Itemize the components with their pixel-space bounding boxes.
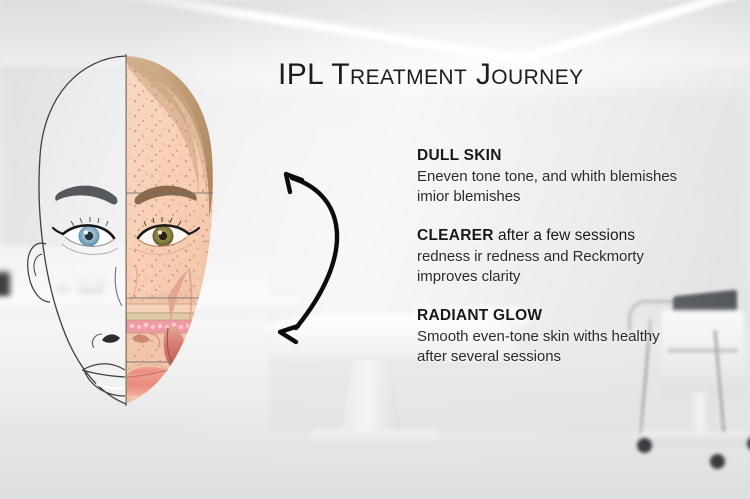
stage-radiant-glow: RADIANT GLOW Smooth even-tone skin withs…	[417, 306, 750, 367]
page-title: IPL Treatment Journey	[278, 58, 584, 92]
stage-heading-bold: RADIANT GLOW	[417, 307, 542, 324]
stage-clearer: CLEARER after a few sessions redness ir …	[417, 226, 750, 287]
face-left-half	[28, 56, 126, 404]
curved-double-arrow	[258, 160, 378, 345]
stage-dull-skin: DULL SKIN Eneven tone tone, and whith bl…	[417, 146, 750, 207]
stage-body-line-1: Eneven tone tone, and whith blemishes	[417, 167, 750, 187]
stage-body-line-1: Smooth even-tone skin withs healthy	[417, 327, 750, 347]
stage-body-line-2: imior blemishes	[417, 187, 750, 207]
stage-body-line-1: redness ir redness and Reckmorty	[417, 247, 750, 267]
ipl-machine-base	[640, 432, 750, 445]
stage-body-line-2: after several sessions	[417, 347, 750, 367]
stage-heading: RADIANT GLOW	[417, 306, 750, 327]
stage-heading-bold: DULL SKIN	[417, 147, 502, 164]
stage-heading: DULL SKIN	[417, 146, 750, 167]
ear-right	[200, 241, 218, 298]
face-right-half	[116, 52, 264, 424]
treatment-bed-base	[310, 430, 440, 448]
stage-heading: CLEARER after a few sessions	[417, 226, 750, 247]
arrowhead-bottom	[280, 326, 298, 342]
stage-list: DULL SKIN Eneven tone tone, and whith bl…	[417, 146, 750, 386]
stage-heading-rest: after a few sessions	[494, 227, 635, 244]
face-svg	[0, 52, 264, 424]
stage-heading-bold: CLEARER	[417, 227, 494, 244]
split-face-illustration	[0, 52, 264, 424]
ipl-wheel-1	[637, 438, 652, 453]
ipl-infographic: IPL Treatment Journey DULL SKIN Eneven t…	[0, 0, 750, 499]
ipl-wheel-2	[710, 454, 725, 469]
stage-body-line-2: improves clarity	[417, 267, 750, 287]
